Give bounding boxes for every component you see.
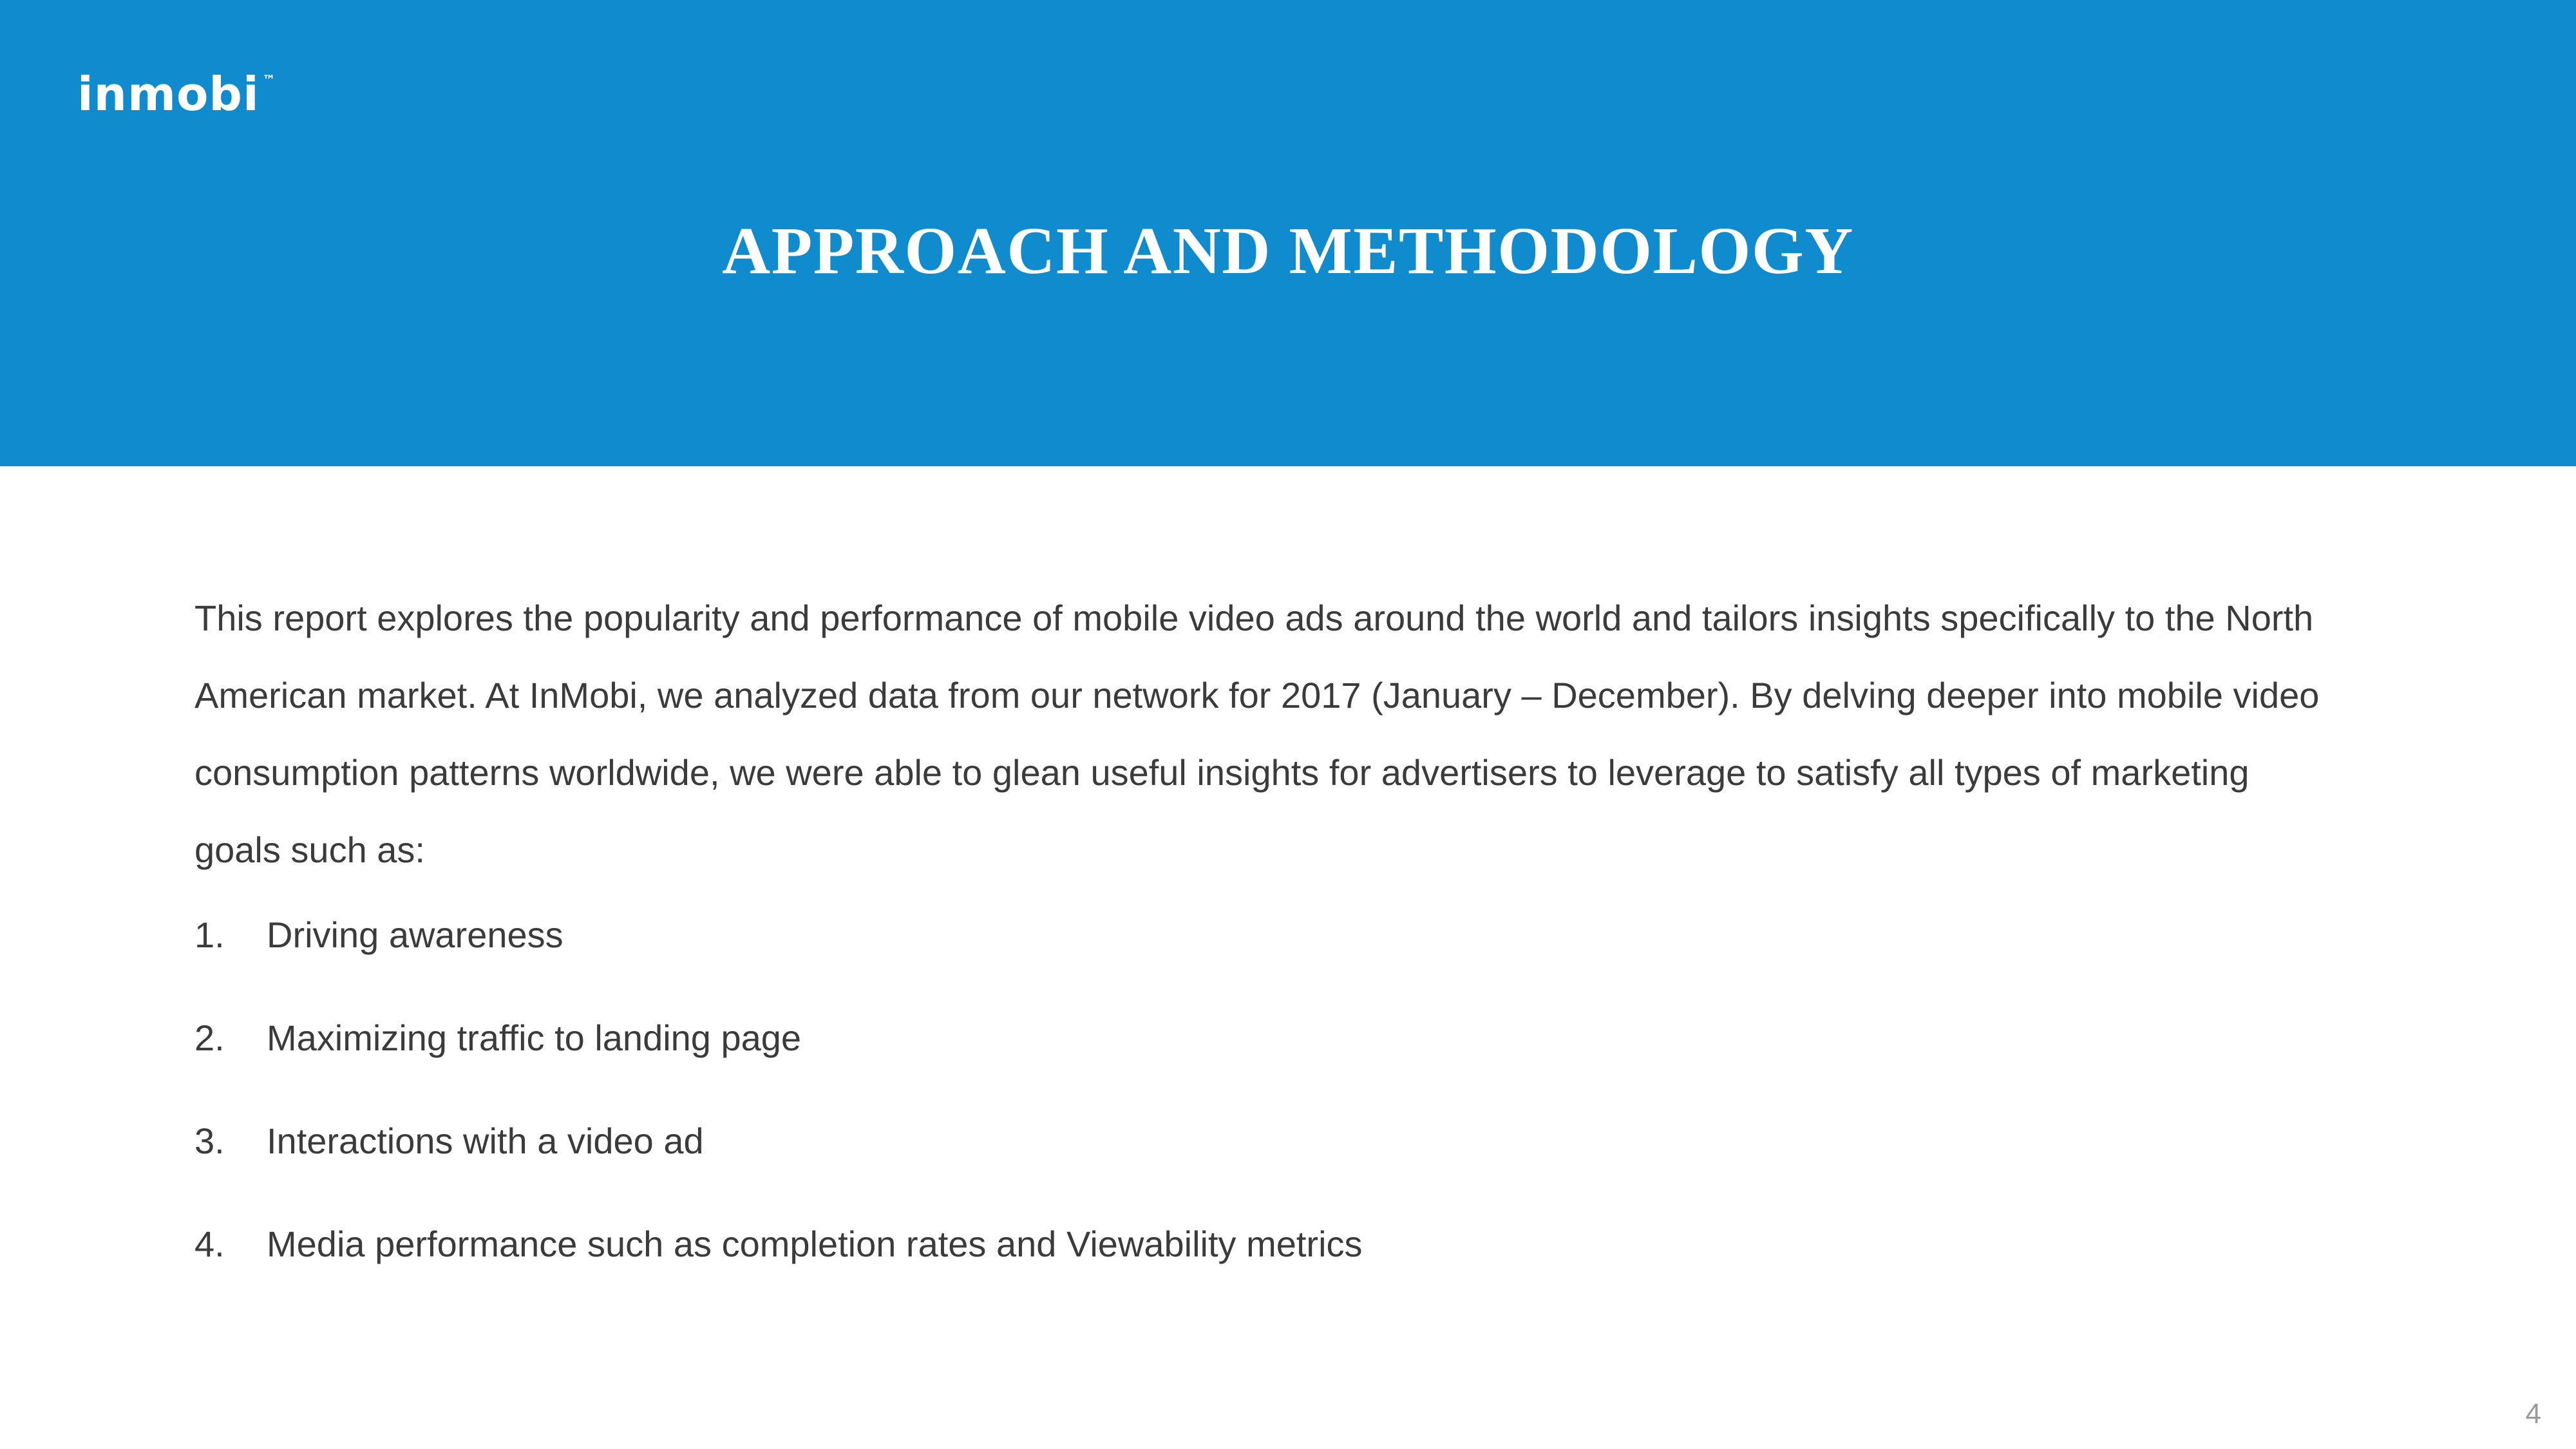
inmobi-logo: inmobi ™ xyxy=(77,71,276,117)
list-item: 3. Interactions with a video ad xyxy=(194,1117,2326,1166)
page-title: APPROACH AND METHODOLOGY xyxy=(0,213,2576,290)
list-item-marker: 3. xyxy=(194,1117,267,1166)
list-item-label: Media performance such as completion rat… xyxy=(267,1220,2326,1269)
slide: inmobi ™ APPROACH AND METHODOLOGY This r… xyxy=(0,0,2576,1449)
list-item-label: Maximizing traffic to landing page xyxy=(267,1014,2326,1063)
list-item-label: Interactions with a video ad xyxy=(267,1117,2326,1166)
list-item-marker: 1. xyxy=(194,911,267,960)
list-item: 1. Driving awareness xyxy=(194,911,2326,960)
list-item-label: Driving awareness xyxy=(267,911,2326,960)
body-content: This report explores the popularity and … xyxy=(194,580,2326,1269)
intro-paragraph: This report explores the popularity and … xyxy=(194,580,2326,889)
list-item-marker: 2. xyxy=(194,1014,267,1063)
marketing-goals-list: 1. Driving awareness 2. Maximizing traff… xyxy=(194,911,2326,1269)
list-item: 2. Maximizing traffic to landing page xyxy=(194,1014,2326,1063)
list-item-marker: 4. xyxy=(194,1220,267,1269)
page-number: 4 xyxy=(2526,1400,2541,1428)
logo-wordmark: inmobi xyxy=(77,71,260,117)
trademark-symbol: ™ xyxy=(263,73,276,86)
list-item: 4. Media performance such as completion … xyxy=(194,1220,2326,1269)
